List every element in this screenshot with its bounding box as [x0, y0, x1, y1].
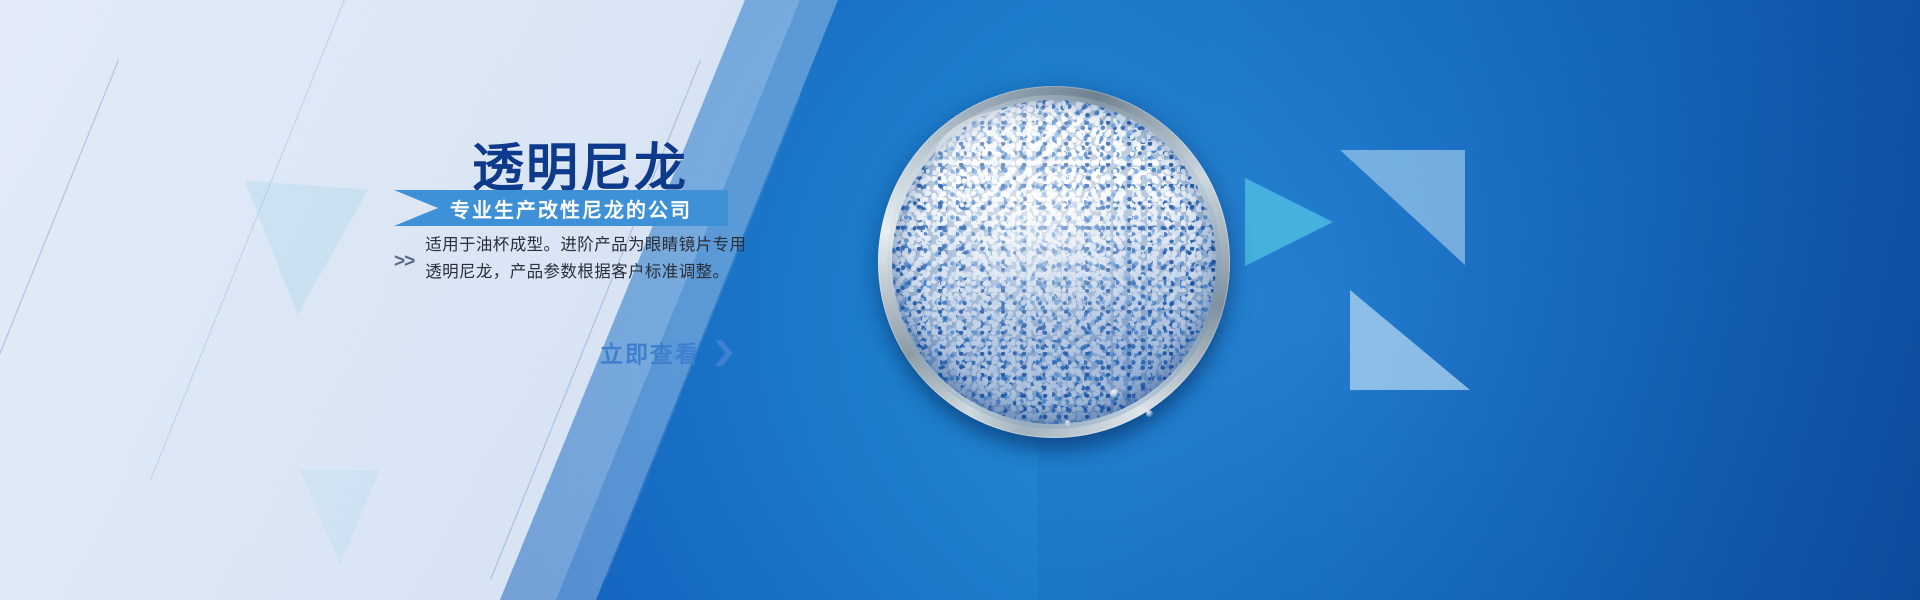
description-line-1: 适用于油杯成型。进阶产品为眼睛镜片专用	[425, 232, 746, 259]
view-now-label: 立即查看	[600, 335, 700, 369]
product-image-nylon-pellets	[878, 86, 1230, 438]
ribbon-label: 专业生产改性尼龙的公司	[450, 194, 692, 223]
banner-content: 透明尼龙 专业生产改性尼龙的公司 >> 适用于油杯成型。进阶产品为眼睛镜片专用 …	[0, 0, 900, 600]
description-line-2: 透明尼龙，产品参数根据客户标准调整。	[425, 259, 746, 286]
banner-description: >> 适用于油杯成型。进阶产品为眼睛镜片专用 透明尼龙，产品参数根据客户标准调整…	[394, 232, 746, 286]
chevron-double-right-icon: >>	[394, 252, 414, 271]
chevron-right-icon: ❯	[710, 338, 740, 364]
view-now-button[interactable]: 立即查看 ❯	[600, 335, 737, 369]
decor-triangle-cyan	[1245, 178, 1333, 266]
banner-title: 透明尼龙	[472, 126, 688, 201]
dish-bubble	[1065, 420, 1071, 426]
description-lines: 适用于油杯成型。进阶产品为眼睛镜片专用 透明尼龙，产品参数根据客户标准调整。	[425, 232, 746, 286]
dish-bubble	[1110, 389, 1119, 398]
nylon-pellets	[892, 100, 1216, 424]
dish-bubble	[1146, 410, 1153, 417]
banner-ribbon: 专业生产改性尼龙的公司	[394, 190, 728, 226]
hero-banner: 透明尼龙 专业生产改性尼龙的公司 >> 适用于油杯成型。进阶产品为眼睛镜片专用 …	[0, 0, 1920, 600]
